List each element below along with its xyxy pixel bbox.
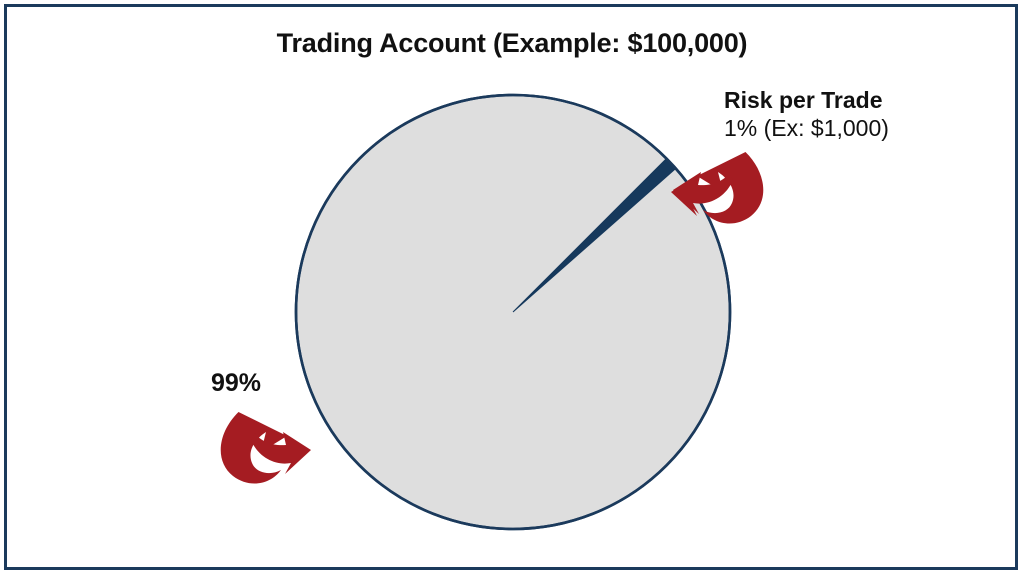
callout-risk-title: Risk per Trade [724,86,889,114]
chart-canvas: Trading Account (Example: $100,000) Risk… [0,0,1024,576]
callout-remaining-percent: 99% [211,368,261,399]
callout-risk-value: 1% (Ex: $1,000) [724,114,889,142]
callout-risk-per-trade: Risk per Trade 1% (Ex: $1,000) [724,86,889,142]
